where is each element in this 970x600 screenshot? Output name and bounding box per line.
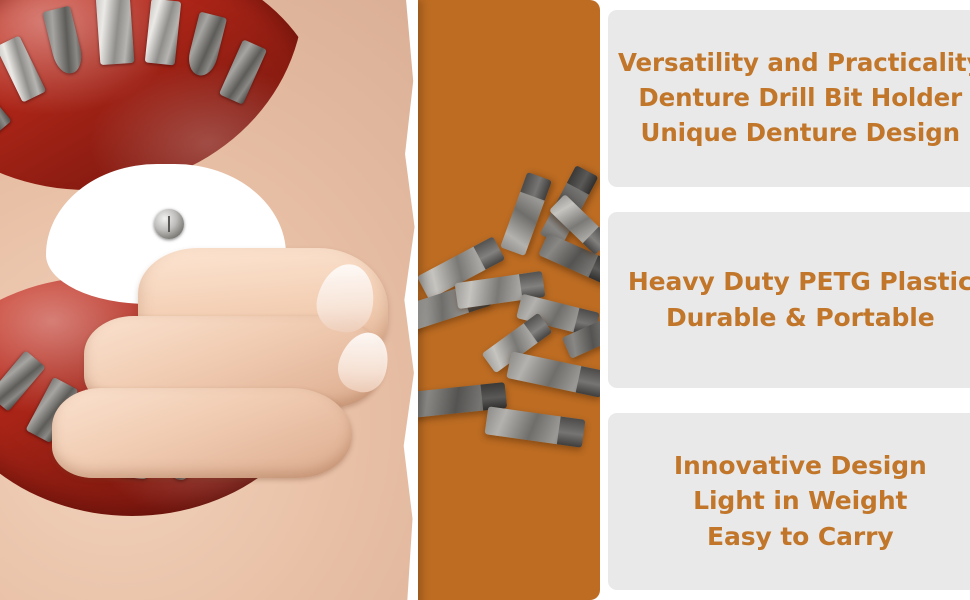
drill-bit [506, 351, 600, 397]
drill-bit [485, 406, 586, 447]
card-line: Innovative Design [674, 452, 927, 481]
denture-holder-photo [0, 0, 418, 600]
card-line: Durable & Portable [666, 304, 935, 333]
middle-finger [52, 388, 352, 478]
feature-card-material: Heavy Duty PETG Plastic Durable & Portab… [608, 212, 970, 389]
card-line: Easy to Carry [707, 523, 894, 552]
product-hero-image: High quality material, more resistant to… [0, 0, 600, 600]
hinge-screw-icon [154, 209, 184, 239]
feature-card-versatility: Versatility and Practicality Denture Dri… [608, 10, 970, 187]
card-line: Denture Drill Bit Holder [638, 84, 962, 112]
card-line: Unique Denture Design [641, 119, 960, 147]
card-line: Versatility and Practicality [618, 49, 970, 77]
feature-cards-column: Versatility and Practicality Denture Dri… [600, 0, 970, 600]
loose-drill-bits-pile [390, 185, 600, 475]
card-line: Light in Weight [693, 487, 907, 516]
feature-card-design: Innovative Design Light in Weight Easy t… [608, 413, 970, 590]
denture-tooth-bit [96, 0, 135, 65]
product-feature-banner: High quality material, more resistant to… [0, 0, 970, 600]
card-line: Heavy Duty PETG Plastic [628, 268, 970, 297]
